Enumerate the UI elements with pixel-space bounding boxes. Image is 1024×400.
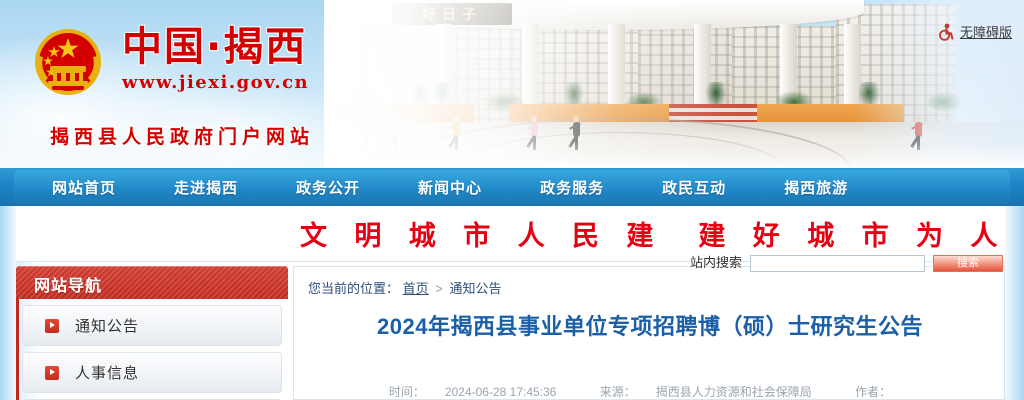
nav-item-about[interactable]: 走进揭西	[174, 177, 238, 198]
article-author-label: 作者：	[855, 385, 891, 399]
article-time-label: 时间：	[389, 385, 425, 399]
sidebar-red-rail	[16, 299, 19, 400]
search-label: 站内搜索	[690, 254, 742, 272]
sidebar-item-label: 人事信息	[75, 362, 139, 383]
site-name: 中国·揭西	[122, 24, 309, 70]
breadcrumb: 您当前的位置： 首页 > 通知公告	[308, 278, 502, 297]
nav-item-affairs[interactable]: 政务公开	[296, 177, 360, 198]
wheelchair-icon	[937, 23, 954, 41]
civic-slogan: 文 明 城 市 人 民 建 建 好 城 市 为 人 民	[300, 214, 1000, 253]
search-button[interactable]: 搜索	[933, 255, 1003, 272]
site-url: www.jiexi.gov.cn	[122, 72, 309, 93]
breadcrumb-home[interactable]: 首页	[403, 281, 429, 296]
article-title: 2024年揭西县事业单位专项招聘博（硕）士研究生公告	[294, 309, 1006, 341]
sidebar-nav: 网站导航 通知公告 人事信息 计划规划	[16, 266, 288, 400]
accessibility-label: 无障碍版	[960, 22, 1012, 41]
article-author: 作者：	[845, 385, 921, 399]
nav-item-news[interactable]: 新闻中心	[418, 177, 482, 198]
banner-photo: 好日子	[324, 0, 1024, 168]
site-subtitle: 揭西县人民政府门户网站	[32, 122, 332, 149]
article-source: 来源：揭西县人力资源和社会保障局	[590, 385, 822, 399]
breadcrumb-separator: >	[435, 281, 443, 296]
nav-item-services[interactable]: 政务服务	[540, 177, 604, 198]
photo-bottom-fade	[324, 142, 1024, 168]
sidebar-item-personnel[interactable]: 人事信息	[22, 352, 282, 393]
article-source-value: 揭西县人力资源和社会保障局	[656, 385, 812, 399]
play-arrow-icon	[45, 366, 59, 380]
breadcrumb-prefix: 您当前的位置：	[308, 281, 399, 296]
article-source-label: 来源：	[600, 385, 636, 399]
nav-item-home[interactable]: 网站首页	[52, 177, 116, 198]
breadcrumb-current: 通知公告	[450, 281, 502, 296]
page-left-edge	[0, 206, 16, 400]
article-meta: 时间：2024-06-28 17:45:36 来源：揭西县人力资源和社会保障局 …	[294, 383, 1006, 400]
article-time-value: 2024-06-28 17:45:36	[445, 385, 556, 399]
site-search: 站内搜索 搜索	[690, 254, 1003, 272]
article-panel: 您当前的位置： 首页 > 通知公告 2024年揭西县事业单位专项招聘博（硕）士研…	[293, 266, 1005, 400]
nav-item-tourism[interactable]: 揭西旅游	[784, 177, 848, 198]
page-root: 好日子	[0, 0, 1024, 400]
sidebar-header: 网站导航	[16, 266, 288, 299]
article-time: 时间：2024-06-28 17:45:36	[379, 385, 566, 399]
sidebar-item-label: 通知公告	[75, 315, 139, 336]
nav-item-interaction[interactable]: 政民互动	[662, 177, 726, 198]
site-wordmark: 中国·揭西 www.jiexi.gov.cn	[122, 24, 309, 93]
sidebar-header-label: 网站导航	[34, 272, 102, 296]
accessibility-link[interactable]: 无障碍版	[937, 22, 1012, 41]
search-input[interactable]	[750, 255, 925, 272]
site-banner: 好日子	[0, 0, 1024, 168]
site-brand[interactable]: 中国·揭西 www.jiexi.gov.cn 揭西县人民政府门户网站	[18, 14, 328, 150]
play-arrow-icon	[45, 319, 59, 333]
main-nav: 网站首页 走进揭西 政务公开 新闻中心 政务服务 政民互动 揭西旅游	[14, 168, 1010, 206]
national-emblem-icon	[24, 22, 112, 110]
sidebar-item-notices[interactable]: 通知公告	[22, 305, 282, 346]
